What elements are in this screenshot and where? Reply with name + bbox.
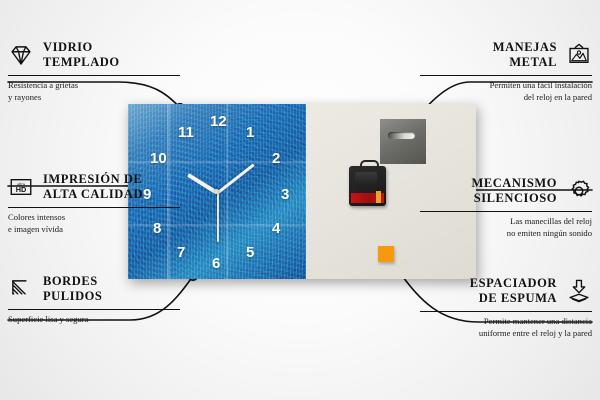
gear-icon (566, 178, 592, 204)
metal-hanger-plate (380, 119, 426, 164)
foam-spacer-icon (566, 278, 592, 304)
clock-numeral-2: 2 (272, 151, 280, 166)
clock-numeral-11: 11 (178, 125, 194, 140)
callout-header: MECANISMO SILENCIOSO (420, 176, 592, 206)
callout-title: VIDRIO TEMPLADO (43, 40, 180, 70)
callout-title: BORDES PULIDOS (43, 274, 180, 304)
callout-title: MECANISMO SILENCIOSO (420, 176, 557, 206)
callout-bordes-pulidos[interactable]: BORDES PULIDOS Superficie lisa y segura (8, 274, 180, 326)
clock-numeral-10: 10 (150, 151, 167, 166)
silent-quartz-mechanism (349, 166, 386, 206)
callout-subtitle-line1: Las manecillas del reloj (510, 216, 592, 226)
callout-title-line1: MECANISMO (471, 176, 557, 190)
ultra-hd-icon: ultra HD (8, 174, 34, 200)
callout-subtitle: Colores intensos e imagen vívida (8, 212, 180, 236)
callout-subtitle-line1: Permite mantener una distancia (484, 316, 592, 326)
callout-rule (420, 211, 592, 213)
callout-subtitle: Resistencia a grietas y rayones (8, 80, 180, 104)
clock-numeral-3: 3 (281, 187, 289, 202)
callout-header: VIDRIO TEMPLADO (8, 40, 180, 70)
callout-subtitle-line2: del reloj en la pared (524, 92, 592, 102)
infographic-stage: 12 1 2 3 4 5 6 7 8 9 10 11 (0, 0, 600, 400)
mechanism-hanging-loop (360, 160, 379, 171)
callout-subtitle-line1: Permiten una fácil instalación (490, 80, 592, 90)
callout-title-line1: MANEJAS (493, 40, 557, 54)
callout-rule (420, 311, 592, 313)
mechanism-battery-label (351, 193, 384, 203)
callout-subtitle-line1: Resistencia a grietas (8, 80, 78, 90)
callout-subtitle: Las manecillas del reloj no emiten ningú… (420, 216, 592, 240)
ultra-hd-icon-bottom-text: HD (16, 185, 27, 194)
callout-subtitle: Permiten una fácil instalación del reloj… (420, 80, 592, 104)
minute-hand (217, 163, 255, 194)
callout-rule (420, 75, 592, 77)
callout-header: ESPACIADOR DE ESPUMA (420, 276, 592, 306)
clock-numeral-5: 5 (246, 245, 254, 260)
callout-vidrio-templado[interactable]: VIDRIO TEMPLADO Resistencia a grietas y … (8, 40, 180, 104)
callout-title-line2: TEMPLADO (43, 55, 120, 69)
callout-impresion-alta-calidad[interactable]: ultra HD IMPRESIÓN DE ALTA CALIDAD Color… (8, 172, 180, 236)
callout-title: ESPACIADOR DE ESPUMA (420, 276, 557, 306)
callout-espaciador-de-espuma[interactable]: ESPACIADOR DE ESPUMA Permite mantener un… (420, 276, 592, 340)
callout-header: BORDES PULIDOS (8, 274, 180, 304)
callout-subtitle-line2: uniforme entre el reloj y la pared (479, 328, 592, 338)
callout-title-line2: METAL (509, 55, 557, 69)
callout-title-line1: VIDRIO (43, 40, 93, 54)
callout-subtitle-line1: Colores intensos (8, 212, 65, 222)
callout-title-line2: ALTA CALIDAD (43, 187, 143, 201)
clock-center-cap (214, 189, 219, 194)
callout-title-line2: SILENCIOSO (474, 191, 557, 205)
callout-title: MANEJAS METAL (420, 40, 557, 70)
callout-rule (8, 309, 180, 311)
clock-numeral-4: 4 (272, 221, 280, 236)
callout-subtitle-line1: Superficie lisa y segura (8, 314, 88, 324)
callout-title-line1: ESPACIADOR (470, 276, 557, 290)
callout-subtitle: Superficie lisa y segura (8, 314, 180, 326)
polished-edges-icon (8, 276, 34, 302)
callout-rule (8, 75, 180, 77)
hanger-slot (388, 132, 415, 139)
foam-spacer (378, 246, 394, 262)
callout-subtitle: Permite mantener una distancia uniforme … (420, 316, 592, 340)
callout-subtitle-line2: no emiten ningún sonido (507, 228, 592, 238)
callout-header: MANEJAS METAL (420, 40, 592, 70)
diamond-icon (8, 42, 34, 68)
clock-numeral-1: 1 (246, 125, 254, 140)
mechanism-dial (355, 172, 377, 186)
callout-title-line2: PULIDOS (43, 289, 102, 303)
callout-subtitle-line2: e imagen vívida (8, 224, 63, 234)
callout-title-line1: BORDES (43, 274, 98, 288)
second-hand (217, 192, 219, 242)
callout-subtitle-line2: y rayones (8, 92, 41, 102)
clock-numeral-7: 7 (177, 245, 185, 260)
callout-title-line2: DE ESPUMA (479, 291, 557, 305)
callout-mecanismo-silencioso[interactable]: MECANISMO SILENCIOSO Las manecillas del … (420, 176, 592, 240)
callout-rule (8, 207, 180, 209)
callout-manejas-metal[interactable]: MANEJAS METAL Permiten una fácil instala… (420, 40, 592, 104)
callout-header: ultra HD IMPRESIÓN DE ALTA CALIDAD (8, 172, 180, 202)
callout-title-line1: IMPRESIÓN DE (43, 172, 142, 186)
callout-title: IMPRESIÓN DE ALTA CALIDAD (43, 172, 180, 202)
picture-frame-hanger-icon (566, 42, 592, 68)
clock-numeral-12: 12 (210, 114, 227, 129)
clock-numeral-6: 6 (212, 256, 220, 271)
